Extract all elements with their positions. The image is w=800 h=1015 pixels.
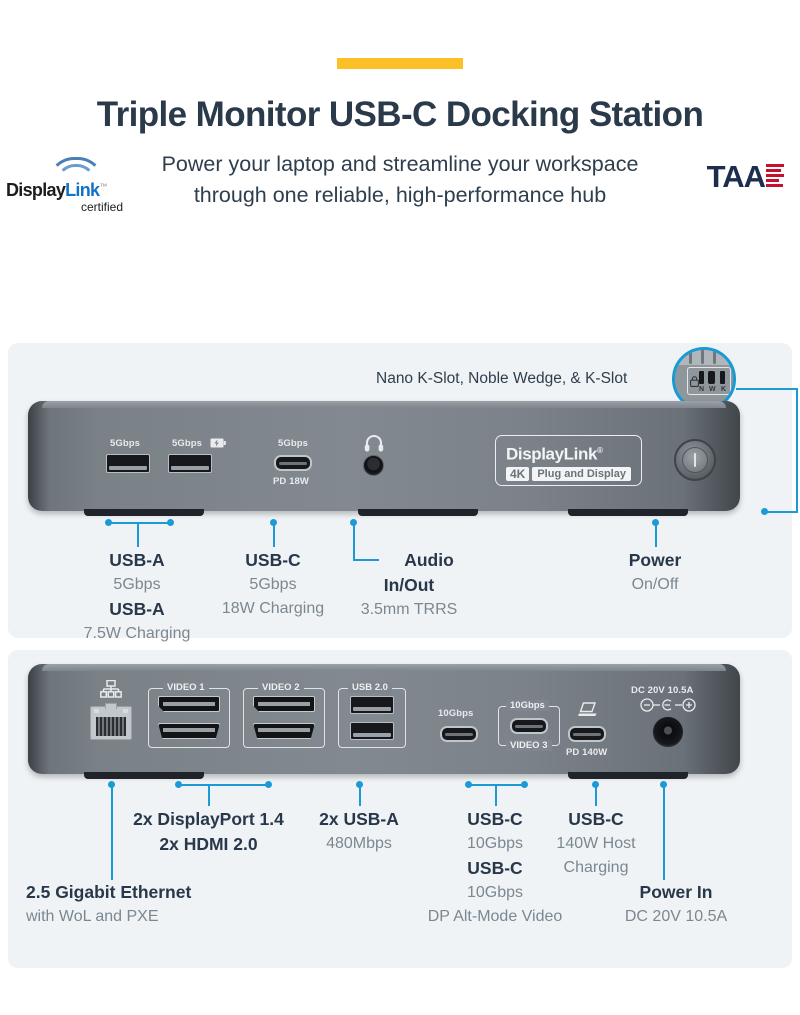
callout-audio-title-1: Audio (379, 548, 479, 573)
callout-bracket-video (178, 784, 266, 786)
callout-usb-a-rear-title: 2x USB-A (305, 807, 413, 832)
callout-usb-c-rear-title-2: USB-C (425, 856, 565, 881)
subtitle-row: DisplayLink™ certified Power your laptop… (0, 149, 800, 221)
callout-power-in-title: Power In (596, 880, 756, 905)
kslot-connector-vertical (796, 388, 798, 512)
taa-flag-icon (766, 164, 784, 187)
video-1-group-label: VIDEO 1 (163, 682, 209, 693)
taa-badge: TAA (707, 161, 784, 192)
callout-stem-usb-c (273, 522, 275, 547)
rear-panel-card: VIDEO 1 VIDEO 2 USB 2.0 10Gbps 10Gbps VI… (8, 650, 792, 968)
displaylink-badge-tagline: Plug and Display (532, 467, 631, 481)
kslot-letter-n: N (699, 386, 704, 393)
video-3-group-label: VIDEO 3 (506, 740, 552, 751)
displaylink-word-display: Display (6, 180, 65, 200)
dock-rear-foot-left (84, 772, 204, 779)
dc-input-label: DC 20V 10.5A (631, 685, 693, 696)
usb-a-port-1 (106, 454, 150, 473)
headphone-icon (364, 434, 384, 452)
callout-stem-usb-a-rear (359, 784, 361, 806)
callout-usb-c-front-title: USB-C (203, 548, 343, 573)
rj45-notch (105, 703, 118, 709)
displaylink-badge-row2: 4K Plug and Display (506, 467, 631, 481)
callout-dot-usb-c-rear-2 (521, 781, 528, 788)
accent-bar (337, 58, 463, 69)
video-2-group-label: VIDEO 2 (258, 682, 304, 693)
usb-a-2-speed-label: 5Gbps (172, 438, 202, 449)
displaylink-certified-logo: DisplayLink™ certified (6, 157, 128, 215)
callout-usb-a-front-sub-2: 7.5W Charging (67, 622, 207, 646)
usb-a-rear-port-2 (350, 722, 394, 740)
callout-usb-c-rear-sub-2: 10Gbps (425, 881, 565, 905)
lock-icon (690, 376, 699, 387)
displaylink-badge-4k: 4K (506, 467, 529, 481)
audio-jack-port (363, 455, 384, 476)
dock-foot-center (358, 509, 478, 516)
callout-usb-c-front-sub-1: 5Gbps (203, 573, 343, 597)
callout-usb-a-front-title-2: USB-A (67, 597, 207, 622)
callout-usb-c-rear: USB-C 10Gbps USB-C 10Gbps DP Alt-Mode Vi… (425, 807, 565, 929)
usb-a-rear-port-1 (350, 696, 394, 714)
displaylink-certified-label: certified (81, 200, 123, 214)
usb-c-rear-pd-port (568, 726, 606, 742)
callout-usb-a-rear-sub: 480Mbps (305, 832, 413, 856)
laptop-charging-icon (578, 702, 598, 718)
rj45-led-left (94, 709, 99, 713)
front-panel-card: Nano K-Slot, Noble Wedge, & K-Slot N W K (8, 343, 792, 638)
dock-rear-foot-right (568, 772, 688, 779)
hdmi-1-port (158, 723, 220, 739)
usb-2-group-label: USB 2.0 (348, 682, 392, 693)
kslot-connector-dot (761, 508, 768, 515)
callout-usb-a-rear: 2x USB-A 480Mbps (305, 807, 413, 856)
usb-c-rear-pd-label: PD 140W (566, 747, 607, 758)
callout-usb-c-host-title: USB-C (546, 807, 646, 832)
displaylink-4k-badge: DisplayLink® 4K Plug and Display (495, 435, 642, 486)
usb-c-rear-port-2 (510, 718, 548, 734)
callout-ethernet: 2.5 Gigabit Ethernet with WoL and PXE (26, 880, 226, 929)
callout-stem-power-in (663, 784, 665, 880)
callout-usb-c-host-charging: USB-C 140W Host Charging (546, 807, 646, 880)
callout-stem-ethernet (111, 784, 113, 880)
kslot-connector-bottom (765, 511, 798, 513)
kslot-caption: Nano K-Slot, Noble Wedge, & K-Slot (376, 370, 627, 388)
dc-power-jack (652, 716, 684, 748)
callout-usb-c-rear-sub-3: DP Alt-Mode Video (425, 905, 565, 929)
taa-label: TAA (707, 161, 765, 192)
callout-usb-a-front-sub-1: 5Gbps (67, 573, 207, 597)
callout-audio-sub: 3.5mm TRRS (339, 598, 479, 622)
kslot-detail-background: N W K (675, 350, 733, 408)
displaylink-badge-name: DisplayLink® (506, 441, 631, 464)
subtitle-line-2: through one reliable, high-performance h… (120, 180, 680, 211)
usb-a-1-speed-label: 5Gbps (110, 438, 140, 449)
displayport-2-port (253, 696, 315, 712)
callout-usb-c-rear-sub-1: 10Gbps (425, 832, 565, 856)
callout-usb-c-rear-title-1: USB-C (425, 807, 565, 832)
kslot-connector-top (736, 388, 798, 390)
power-button[interactable] (674, 439, 716, 481)
callout-ethernet-sub: with WoL and PXE (26, 905, 226, 929)
usb-c-rear-1-speed-label: 10Gbps (438, 708, 473, 719)
usb-a-port-2 (168, 454, 212, 473)
displayport-1-port (158, 696, 220, 712)
callout-stem-power (655, 522, 657, 547)
callout-ethernet-title: 2.5 Gigabit Ethernet (26, 880, 226, 905)
callout-video: 2x DisplayPort 1.4 2x HDMI 2.0 (126, 807, 291, 857)
callout-power-title: Power (585, 548, 725, 573)
rj45-pins (96, 717, 126, 736)
callout-usb-a-front-title-1: USB-A (67, 548, 207, 573)
callout-power-in-sub: DC 20V 10.5A (596, 905, 756, 929)
polarity-icon (640, 698, 696, 712)
hdmi-2-port (253, 723, 315, 739)
kslot-outline: N W K (687, 367, 731, 395)
usb-c-port-front (274, 455, 312, 471)
callout-video-title-1: 2x DisplayPort 1.4 (126, 807, 291, 832)
dock-foot-right (568, 509, 688, 516)
dock-foot-left (84, 509, 204, 516)
callout-video-title-2: 2x HDMI 2.0 (126, 832, 291, 857)
dock-top-edge (42, 401, 726, 408)
dock-rear-top-edge (42, 664, 726, 671)
callout-usb-a-front: USB-A 5Gbps USB-A 7.5W Charging (67, 548, 207, 646)
callout-power-sub: On/Off (585, 573, 725, 597)
dock-rear-body: VIDEO 1 VIDEO 2 USB 2.0 10Gbps 10Gbps VI… (28, 664, 740, 774)
callout-usb-c-front-sub-2: 18W Charging (203, 597, 343, 621)
callout-stem-usb-c-rear (495, 784, 497, 806)
page-title: Triple Monitor USB-C Docking Station (0, 95, 800, 135)
kslot-letter-w: W (709, 386, 716, 393)
callout-usb-c-front: USB-C 5Gbps 18W Charging (203, 548, 343, 621)
callout-stem-video (208, 784, 210, 806)
callout-dot-video-2 (265, 781, 272, 788)
callout-stem-usb-a (137, 522, 139, 547)
kslot-letter-k: K (721, 386, 726, 393)
callout-power-in: Power In DC 20V 10.5A (596, 880, 756, 929)
rj45-led-right (123, 709, 128, 713)
displaylink-wordmark: DisplayLink™ (6, 180, 107, 201)
callout-audio-title-2: In/Out (339, 573, 479, 598)
callout-stem-usb-c-host (595, 784, 597, 806)
callout-usb-c-host-sub-1: 140W Host (546, 832, 646, 856)
dock-front-body: 5Gbps 5Gbps 5Gbps PD 18W DisplayLink® 4K… (28, 401, 740, 511)
ethernet-rj45-port (90, 706, 132, 740)
battery-charging-icon (210, 438, 226, 448)
callout-dot-usb-a-2 (167, 519, 174, 526)
power-symbol-icon (694, 453, 696, 466)
power-button-inner (682, 447, 709, 474)
callout-power-front: Power On/Off (585, 548, 725, 597)
usb-c-front-speed-label: 5Gbps (278, 438, 308, 449)
displaylink-word-link: Link (65, 180, 99, 200)
usb-c-front-pd-label: PD 18W (273, 476, 309, 487)
callout-usb-c-host-sub-2: Charging (546, 856, 646, 880)
usb-c-rear-port-1 (440, 726, 478, 742)
displaylink-trademark: ™ (99, 182, 106, 191)
callout-audio-front: Audio In/Out 3.5mm TRRS (339, 548, 479, 622)
subtitle-line-1: Power your laptop and streamline your wo… (120, 149, 680, 180)
ethernet-icon (100, 680, 122, 698)
usb-c-rear-2-speed-label: 10Gbps (506, 700, 549, 711)
